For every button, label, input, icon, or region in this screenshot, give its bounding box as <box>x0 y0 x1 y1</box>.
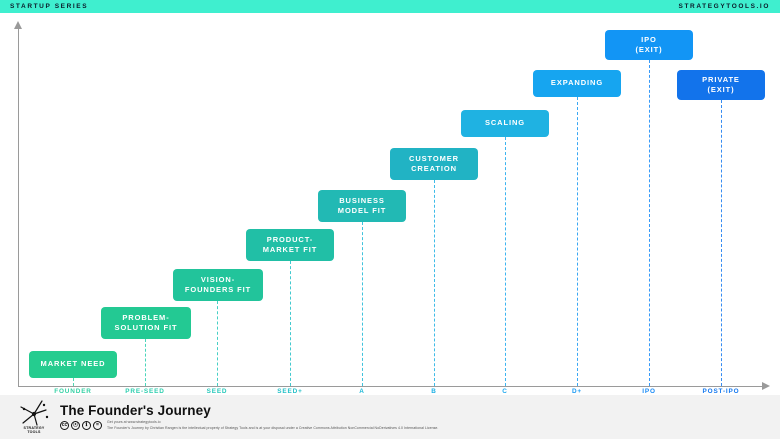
y-axis-line <box>18 27 19 387</box>
x-axis-line <box>18 386 763 387</box>
stage-connector-line <box>505 137 506 386</box>
stage-box[interactable]: SCALING <box>461 110 549 137</box>
stage-box[interactable]: PRODUCT- MARKET FIT <box>246 229 334 261</box>
banner-brand-label: STRATEGYTOOLS.IO <box>679 0 770 13</box>
stage-connector-line <box>290 261 291 386</box>
logo-wordmark: STRATEGY TOOLS <box>19 426 49 435</box>
stage-box[interactable]: PRIVATE (EXIT) <box>677 70 765 100</box>
stage-box[interactable]: VISION- FOUNDERS FIT <box>173 269 263 301</box>
cc-by-icon: ℹ <box>82 421 91 430</box>
stage-connector-line <box>577 97 578 386</box>
stage-box[interactable]: BUSINESS MODEL FIT <box>318 190 406 222</box>
banner-series-label: STARTUP SERIES <box>10 0 88 13</box>
cc-icon: cc <box>60 421 69 430</box>
stage-box[interactable]: EXPANDING <box>533 70 621 97</box>
footer-line-2: The Founder's Journey by Christian Range… <box>107 426 438 431</box>
stage-box[interactable]: MARKET NEED <box>29 351 117 378</box>
footer-title: The Founder's Journey <box>60 403 438 418</box>
stage-connector-line <box>434 180 435 386</box>
stage-connector-line <box>217 301 218 386</box>
footer-fineprint: Get yours at www.strategytools.io The Fo… <box>107 420 438 431</box>
stage-connector-line <box>721 100 722 386</box>
footer-content: The Founder's Journey ccⓧℹ= Get yours at… <box>60 403 438 431</box>
footer-license-row: ccⓧℹ= Get yours at www.strategytools.io … <box>60 420 438 431</box>
cc-nd-icon: = <box>93 421 102 430</box>
stage-connector-line <box>73 378 74 386</box>
stage-box[interactable]: PROBLEM- SOLUTION FIT <box>101 307 191 339</box>
starburst-logo-icon <box>17 399 51 427</box>
stage-connector-line <box>649 60 650 386</box>
cc-nc-icon: ⓧ <box>71 421 80 430</box>
footer: STRATEGY TOOLS The Founder's Journey ccⓧ… <box>0 395 780 439</box>
creative-commons-icon-group: ccⓧℹ= <box>60 421 102 430</box>
chart-area: MARKET NEEDPROBLEM- SOLUTION FITVISION- … <box>0 13 780 395</box>
stage-box[interactable]: IPO (EXIT) <box>605 30 693 60</box>
top-banner: STARTUP SERIES STRATEGYTOOLS.IO <box>0 0 780 13</box>
stage-connector-line <box>145 339 146 386</box>
stage-box[interactable]: CUSTOMER CREATION <box>390 148 478 180</box>
x-axis-arrow-icon <box>762 382 770 390</box>
stage-connector-line <box>362 222 363 386</box>
strategytools-logo: STRATEGY TOOLS <box>12 398 58 436</box>
